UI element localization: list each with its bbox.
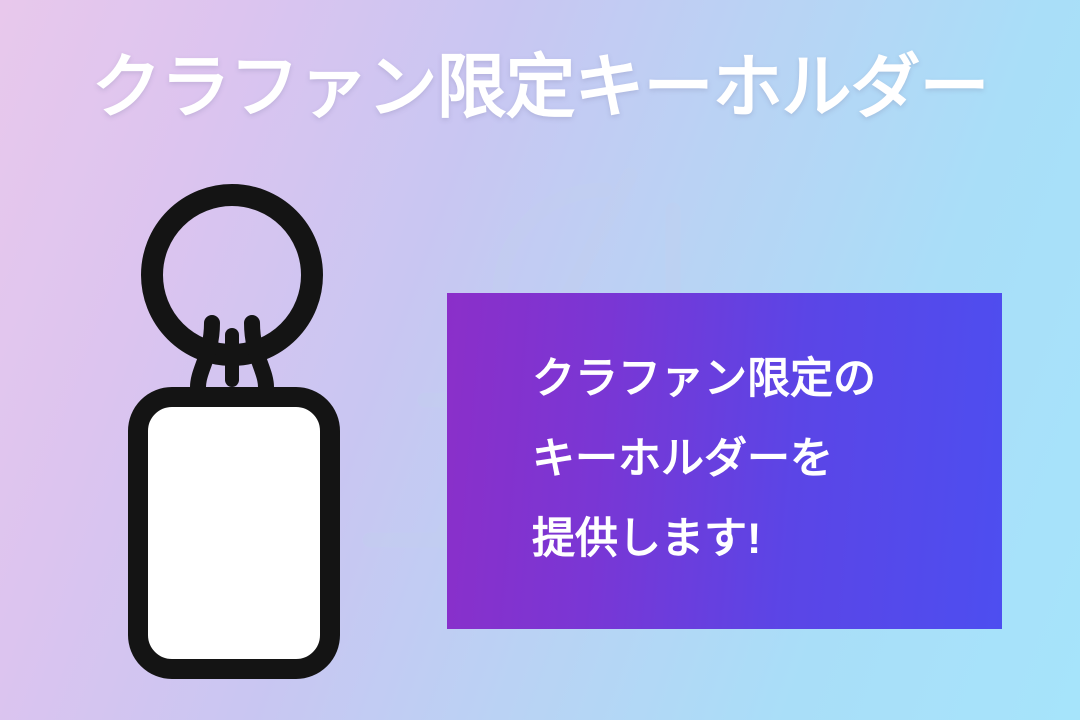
callout-line-2: キーホルダーを [532,425,833,495]
callout-box: クラファン限定の キーホルダーを 提供します! [447,293,1002,629]
keychain-icon [120,175,360,685]
page-title: クラファン限定キーホルダー [0,52,1080,122]
promo-banner: クラファン限定キーホルダー クラファン限定の キーホルダーを 提供します! [0,0,1080,720]
callout-line-1: クラファン限定の [532,345,876,415]
callout-line-3: 提供します! [532,505,761,575]
